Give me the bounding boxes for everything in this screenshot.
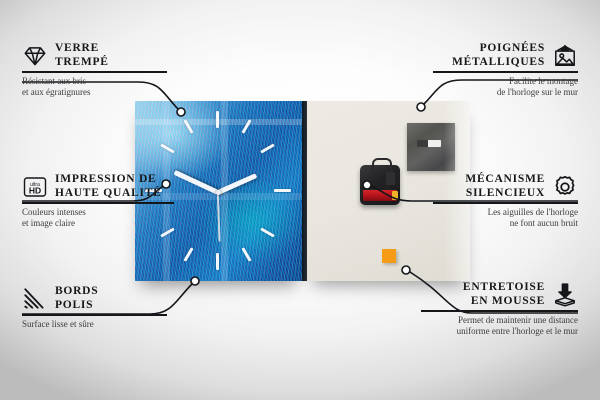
clock-center-cap bbox=[216, 190, 221, 195]
clock-tick bbox=[160, 143, 174, 153]
clock-hour-hand bbox=[217, 173, 257, 195]
foam-spacer bbox=[382, 249, 396, 263]
feature-subtitle: Les aiguilles de l'horloge ne font aucun… bbox=[433, 207, 578, 230]
clock-minute-hand bbox=[173, 170, 219, 195]
feature-divider bbox=[22, 202, 174, 204]
infographic-canvas: VERRE TREMPÉ Résistant aux bris et aux é… bbox=[0, 0, 600, 400]
gear-icon bbox=[552, 174, 578, 200]
feature-title: VERRE TREMPÉ bbox=[55, 42, 109, 69]
product-photo bbox=[135, 101, 470, 281]
feature-entretoise-en-mousse: ENTRETOISE EN MOUSSE Permet de maintenir… bbox=[421, 281, 578, 338]
feature-divider bbox=[22, 71, 167, 73]
clock-tick bbox=[274, 189, 291, 192]
feature-title: POIGNÉES MÉTALLIQUES bbox=[452, 42, 545, 69]
feature-divider bbox=[433, 202, 578, 204]
mechanism-chip bbox=[386, 172, 395, 185]
feature-divider bbox=[421, 310, 578, 312]
svg-text:HD: HD bbox=[29, 185, 41, 195]
feature-title: BORDS POLIS bbox=[55, 285, 98, 312]
metal-hanger-plate bbox=[407, 123, 455, 171]
feature-subtitle: Surface lisse et sûre bbox=[22, 319, 167, 331]
clock-tick bbox=[216, 253, 219, 270]
feature-title: ENTRETOISE EN MOUSSE bbox=[463, 281, 545, 308]
feature-title: IMPRESSION DE HAUTE QUALITÉ bbox=[55, 173, 162, 200]
mechanism-hook bbox=[372, 158, 392, 172]
framed-picture-hanging-icon bbox=[552, 43, 578, 69]
clock-tick bbox=[183, 247, 193, 261]
clock-tick bbox=[241, 119, 251, 133]
feature-bords-polis: BORDS POLIS Surface lisse et sûre bbox=[22, 285, 167, 330]
clock-tick bbox=[241, 247, 251, 261]
clock-tick bbox=[216, 111, 219, 128]
battery bbox=[363, 190, 397, 201]
feature-mecanisme-silencieux: MÉCANISME SILENCIEUX Les aiguilles de l'… bbox=[433, 173, 578, 230]
arrow-down-layers-icon bbox=[552, 282, 578, 308]
feature-subtitle: Facilite le montage de l'horloge sur le … bbox=[433, 76, 578, 99]
clock-tick bbox=[260, 227, 274, 237]
diagonal-lines-icon bbox=[22, 286, 48, 312]
feature-title: MÉCANISME SILENCIEUX bbox=[465, 173, 545, 200]
clock-tick bbox=[260, 143, 274, 153]
quartz-mechanism bbox=[360, 165, 400, 205]
feature-poignees-metalliques: POIGNÉES MÉTALLIQUES Facilite le montage… bbox=[433, 42, 578, 99]
feature-subtitle: Résistant aux bris et aux égratignures bbox=[22, 76, 167, 99]
feature-verre-trempe: VERRE TREMPÉ Résistant aux bris et aux é… bbox=[22, 42, 167, 99]
feature-divider bbox=[22, 314, 167, 316]
feature-impression-haute-qualite: ultra HD IMPRESSION DE HAUTE QUALITÉ Cou… bbox=[22, 173, 174, 230]
clock-second-hand bbox=[217, 192, 220, 242]
ultra-hd-icon: ultra HD bbox=[22, 174, 48, 200]
diamond-icon bbox=[22, 43, 48, 69]
feature-divider bbox=[433, 71, 578, 73]
feature-subtitle: Couleurs intenses et image claire bbox=[22, 207, 174, 230]
clock-tick bbox=[183, 119, 193, 133]
feature-subtitle: Permet de maintenir une distance uniform… bbox=[421, 315, 578, 338]
hanger-slot bbox=[417, 140, 441, 147]
